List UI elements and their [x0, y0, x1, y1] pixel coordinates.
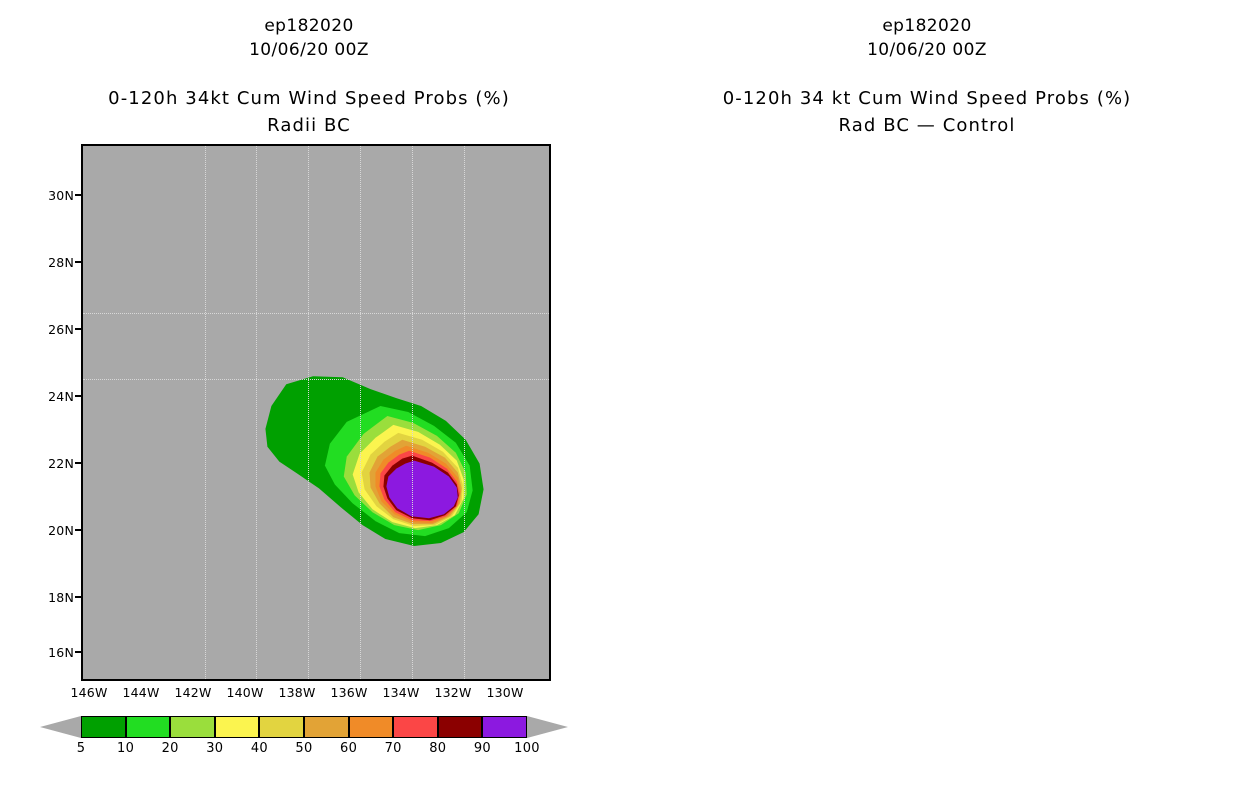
left-ytickmark-18n — [75, 596, 81, 598]
colorbar-under-arrow-icon — [40, 716, 81, 738]
cbar-band-90[interactable] — [482, 716, 527, 738]
gridline-v-144w — [256, 146, 257, 679]
cbar-label-100: 100 — [502, 741, 552, 756]
left-ytick-30n: 30N — [34, 188, 74, 203]
left-xtick-134w: 134W — [371, 685, 431, 700]
left-ytick-24n: 24N — [34, 389, 74, 404]
left-xtick-132w: 132W — [423, 685, 483, 700]
left-ytickmark-16n — [75, 651, 81, 653]
gridline-v-142w — [308, 146, 309, 679]
cbar-label-80: 80 — [413, 741, 463, 756]
left-ytickmark-22n — [75, 462, 81, 464]
cbar-band-80[interactable] — [438, 716, 483, 738]
left-ytick-18n: 18N — [34, 590, 74, 605]
cbar-label-40: 40 — [234, 741, 284, 756]
left-ytickmark-28n — [75, 261, 81, 263]
cbar-band-70[interactable] — [393, 716, 438, 738]
left-xtick-146w: 146W — [59, 685, 119, 700]
left-contour-field — [83, 146, 549, 679]
cbar-label-60: 60 — [324, 741, 374, 756]
cbar-band-40[interactable] — [259, 716, 304, 738]
cbar-label-70: 70 — [368, 741, 418, 756]
left-colorbar[interactable]: 5 10 20 30 40 50 60 70 80 90 100 — [81, 716, 527, 738]
left-datetime: 10/06/20 00Z — [0, 40, 618, 60]
gridline-v-138w — [412, 146, 413, 679]
left-ytick-22n: 22N — [34, 456, 74, 471]
gridline-h-24n — [83, 313, 549, 314]
left-main-title: 0-120h 34kt Cum Wind Speed Probs (%) — [0, 88, 618, 109]
cbar-label-50: 50 — [279, 741, 329, 756]
left-ytickmark-30n — [75, 194, 81, 196]
left-ytickmark-24n — [75, 395, 81, 397]
cbar-band-10[interactable] — [126, 716, 171, 738]
cbar-band-50[interactable] — [304, 716, 349, 738]
gridline-v-140w — [360, 146, 361, 679]
right-sub-title: Rad BC — Control — [618, 115, 1236, 136]
cbar-band-30[interactable] — [215, 716, 260, 738]
cbar-band-20[interactable] — [170, 716, 215, 738]
cbar-band-5[interactable] — [81, 716, 126, 738]
right-datetime: 10/06/20 00Z — [618, 40, 1236, 60]
left-xtick-142w: 142W — [163, 685, 223, 700]
left-ytickmark-20n — [75, 529, 81, 531]
cbar-label-10: 10 — [101, 741, 151, 756]
left-storm-id: ep182020 — [0, 16, 618, 36]
gridline-v-146w — [205, 146, 206, 679]
panel-rad-bc-control: ep182020 10/06/20 00Z 0-120h 34 kt Cum W… — [618, 0, 1236, 800]
colorbar-over-arrow-icon — [527, 716, 568, 738]
left-ytick-20n: 20N — [34, 523, 74, 538]
left-xtick-136w: 136W — [319, 685, 379, 700]
cbar-band-60[interactable] — [349, 716, 394, 738]
cbar-label-20: 20 — [145, 741, 195, 756]
cbar-label-5: 5 — [56, 741, 106, 756]
left-xtick-144w: 144W — [111, 685, 171, 700]
cbar-label-90: 90 — [457, 741, 507, 756]
right-main-title: 0-120h 34 kt Cum Wind Speed Probs (%) — [618, 88, 1236, 109]
left-sub-title: Radii BC — [0, 115, 618, 136]
left-xtick-130w: 130W — [475, 685, 535, 700]
left-ytick-26n: 26N — [34, 322, 74, 337]
cbar-label-30: 30 — [190, 741, 240, 756]
right-storm-id: ep182020 — [618, 16, 1236, 36]
gridline-h-22n — [83, 379, 549, 380]
left-ytick-28n: 28N — [34, 255, 74, 270]
left-ytick-16n: 16N — [34, 645, 74, 660]
panel-radii-bc: ep182020 10/06/20 00Z 0-120h 34kt Cum Wi… — [0, 0, 618, 800]
left-xtick-140w: 140W — [215, 685, 275, 700]
left-xtick-138w: 138W — [267, 685, 327, 700]
left-plot-area[interactable] — [81, 144, 551, 681]
figure-canvas: ep182020 10/06/20 00Z 0-120h 34kt Cum Wi… — [0, 0, 1236, 800]
left-ytickmark-26n — [75, 328, 81, 330]
gridline-v-136w — [464, 146, 465, 679]
